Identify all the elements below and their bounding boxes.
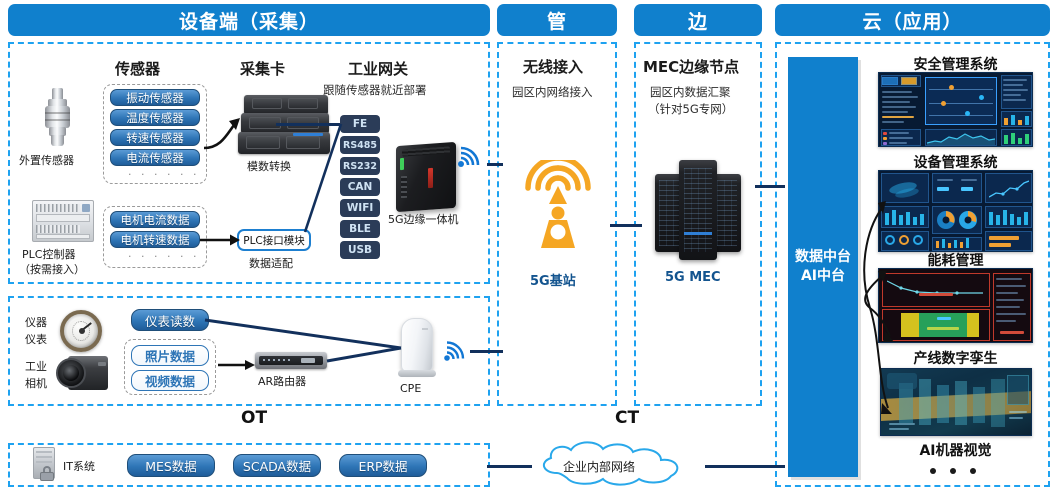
data-ai-platform-bar: 数据中台 AI中台 xyxy=(788,57,858,477)
plc-controller-label-line2: （按需接入） xyxy=(19,261,85,277)
edge-title: MEC边缘节点 xyxy=(643,56,739,77)
5g-mec-rack-icon xyxy=(655,160,741,260)
connector-edge-to-cloud xyxy=(755,185,785,188)
interface-can[interactable]: CAN xyxy=(340,178,380,196)
column-header-edge: 边 xyxy=(634,4,762,36)
edge-subtitle-line2: （针对5G专网） xyxy=(648,101,733,117)
connector-ot-to-pipe xyxy=(470,350,503,353)
app-title-ai-vision: AI机器视觉 xyxy=(878,440,1033,460)
connector-sensors-to-card xyxy=(204,118,248,154)
connector-plc-to-module xyxy=(200,230,244,250)
interface-fe[interactable]: FE xyxy=(340,115,380,133)
column-header-device: 设备端（采集） xyxy=(8,4,490,36)
column-header-pipe: 管 xyxy=(497,4,617,36)
connector-module-to-fe xyxy=(305,124,345,236)
section-label-ct: CT xyxy=(615,408,639,428)
pipe-title: 无线接入 xyxy=(523,56,583,77)
cloud-apps-ellipsis xyxy=(930,468,976,474)
camera-label-line1: 工业 xyxy=(25,358,47,374)
connector-ot-to-cpe xyxy=(205,315,405,375)
column-header-cloud: 云（应用） xyxy=(775,4,1050,36)
group-title-card: 采集卡 xyxy=(240,58,285,79)
collection-card-caption: 模数转换 xyxy=(247,158,291,174)
instrument-label-line1: 仪器 xyxy=(25,314,47,330)
5g-base-station-label: 5G基站 xyxy=(530,270,576,289)
plc-controller-label-line1: PLC控制器 xyxy=(22,246,75,262)
tag-speed-sensor[interactable]: 转速传感器 xyxy=(110,129,200,146)
tag-erp-data[interactable]: ERP数据 xyxy=(339,454,427,477)
interface-wifi[interactable]: WIFI xyxy=(340,199,380,217)
plc-module-caption: 数据适配 xyxy=(249,255,293,271)
wifi-signal-icon-cpe xyxy=(444,340,468,364)
instrument-label-line2: 仪表 xyxy=(25,331,47,347)
pipe-subtitle: 园区内网络接入 xyxy=(512,84,593,100)
5g-base-station-icon xyxy=(515,160,601,260)
5g-edge-box-label: 5G边缘一体机 xyxy=(388,211,459,227)
architecture-diagram: 设备端（采集） 管 边 云（应用） 传感器 采集卡 工业网关 跟随传感器就近部署… xyxy=(0,0,1057,495)
connector-device-to-pipe xyxy=(487,163,503,166)
plc-interface-module[interactable]: PLC接口模块 xyxy=(237,229,311,251)
tag-video-data[interactable]: 视频数据 xyxy=(131,370,209,391)
it-system-icon xyxy=(30,447,60,485)
tag-photo-data[interactable]: 照片数据 xyxy=(131,345,209,366)
enterprise-network-label: 企业内部网络 xyxy=(563,458,635,475)
app-title-security: 安全管理系统 xyxy=(878,54,1033,74)
plc-controller-icon xyxy=(32,200,94,242)
industrial-camera-icon xyxy=(56,356,108,390)
section-label-ot: OT xyxy=(241,408,267,428)
sensor-group-ellipsis: · · · · · · xyxy=(128,168,199,181)
5g-mec-label: 5G MEC xyxy=(665,270,721,285)
group-title-gateway: 工业网关 xyxy=(348,58,408,79)
it-system-label: IT系统 xyxy=(63,458,95,474)
connector-cloudnet-to-cloud xyxy=(705,465,785,468)
interface-usb[interactable]: USB xyxy=(340,241,380,259)
tag-current-sensor[interactable]: 电流传感器 xyxy=(110,149,200,166)
camera-label-line2: 相机 xyxy=(25,375,47,391)
ar-router-label: AR路由器 xyxy=(258,373,306,389)
connector-platform-to-apps xyxy=(852,100,912,400)
pressure-gauge-icon xyxy=(60,310,102,352)
tag-motor-speed-data[interactable]: 电机转速数据 xyxy=(110,231,200,248)
plc-group-ellipsis: · · · · · · xyxy=(128,250,199,263)
5g-edge-box-icon xyxy=(396,140,460,212)
data-platform-line2: AI中台 xyxy=(801,268,845,284)
cpe-label: CPE xyxy=(400,382,421,395)
group-title-sensor: 传感器 xyxy=(115,58,160,79)
tag-temperature-sensor[interactable]: 温度传感器 xyxy=(110,109,200,126)
tag-motor-current-data[interactable]: 电机电流数据 xyxy=(110,211,200,228)
tag-vibration-sensor[interactable]: 振动传感器 xyxy=(110,89,200,106)
tag-scada-data[interactable]: SCADA数据 xyxy=(233,454,321,477)
edge-subtitle-line1: 园区内数据汇聚 xyxy=(650,84,731,100)
wifi-signal-icon-edge xyxy=(458,144,484,170)
interface-ble[interactable]: BLE xyxy=(340,220,380,238)
tag-mes-data[interactable]: MES数据 xyxy=(127,454,215,477)
tag-meter-reading[interactable]: 仪表读数 xyxy=(131,309,209,331)
gateway-note: 跟随传感器就近部署 xyxy=(323,82,427,98)
external-sensor-icon xyxy=(40,88,76,148)
external-sensor-label: 外置传感器 xyxy=(19,152,74,168)
interface-rs232[interactable]: RS232 xyxy=(340,157,380,175)
interface-rs485[interactable]: RS485 xyxy=(340,136,380,154)
connector-pipe-to-edge xyxy=(610,224,642,227)
data-platform-line1: 数据中台 xyxy=(795,249,851,265)
